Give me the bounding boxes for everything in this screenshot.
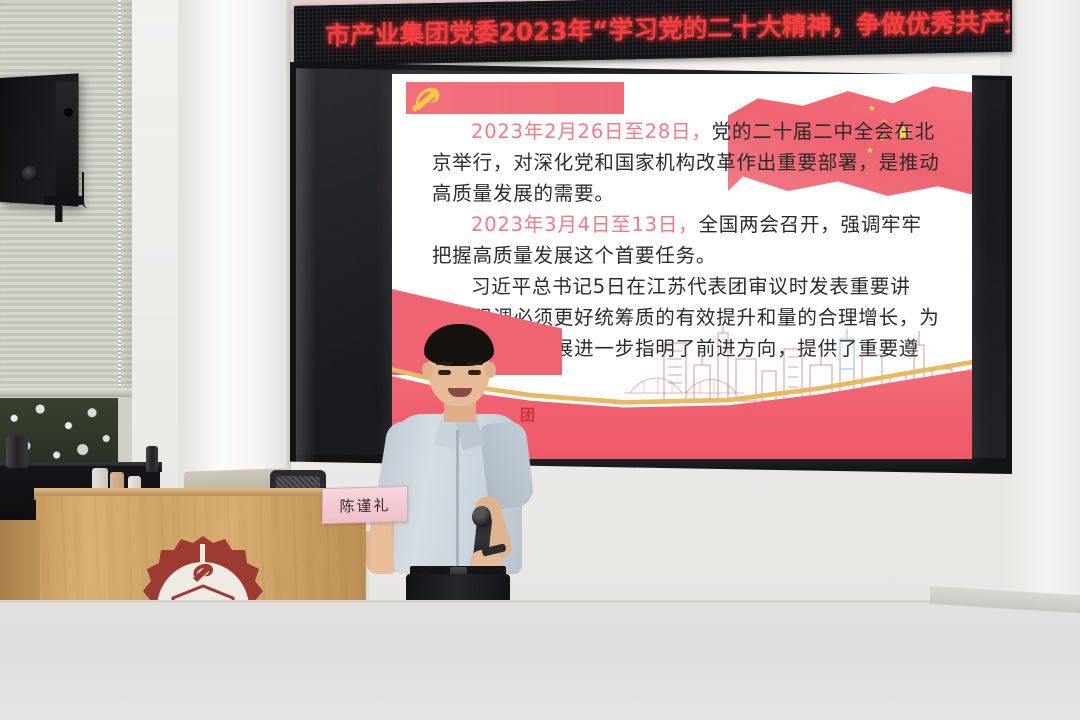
slide-paragraph-2: 2023年3月4日至13日，全国两会召开，强调牢牢把握高质量发展这个首要任务。 (432, 209, 940, 271)
lecture-hall-photo: 市产业集团党委2023年“学习党的二十大精神，争做优秀共产党员”党员示范培训班 … (0, 0, 1080, 720)
presenter-ear-left (422, 362, 433, 378)
right-wall (1000, 0, 1080, 640)
presenter-nameplate: 陈谨礼 (322, 486, 408, 524)
presenter-brow-left (436, 362, 453, 365)
slide-p1-highlight: 2023年2月26日至28日， (471, 120, 712, 143)
hammer-sickle-icon (410, 84, 444, 112)
presenter-ear-right (485, 362, 496, 378)
speaker-port-icon (64, 108, 73, 117)
slide-paragraph-1: 2023年2月26日至28日，党的二十届二中全会在北京举行，对深化党和国家机构改… (432, 116, 940, 209)
nameplate-text: 陈谨礼 (339, 494, 390, 516)
floor-wall-joint (0, 600, 1080, 603)
presenter-brow-right (466, 362, 483, 365)
left-window (0, 0, 132, 480)
presenter-hair (424, 324, 494, 366)
blinds-cord[interactable] (118, 0, 121, 392)
speaker-cable (82, 172, 88, 208)
slide-p2-highlight: 2023年3月4日至13日， (471, 213, 698, 236)
presenter-shirt-placket (456, 430, 459, 570)
wall-pillar (178, 0, 290, 500)
speaker-face (56, 82, 78, 200)
presenter-eye-left (438, 370, 451, 375)
presenter-eye-right (468, 370, 481, 375)
floor (0, 600, 1080, 720)
counter-jar (6, 436, 28, 468)
screen-glare (296, 68, 316, 466)
flag-star-small-1: ★ (868, 104, 876, 113)
speaker-driver-icon (22, 166, 38, 182)
counter-bottle (146, 446, 158, 472)
blinds-bottom-rail (0, 388, 132, 397)
